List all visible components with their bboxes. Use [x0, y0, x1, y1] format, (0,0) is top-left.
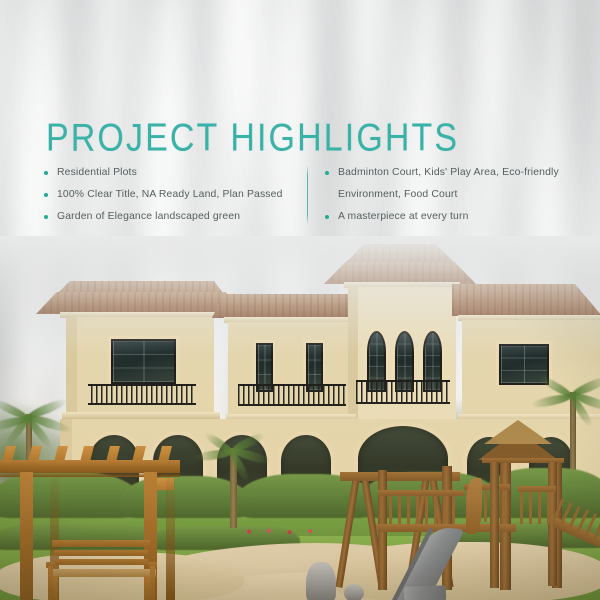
- bench-seat: [48, 569, 156, 577]
- roof-central-tower-slope: [324, 262, 476, 284]
- bullet-dot-icon: [325, 215, 329, 219]
- list-item: Residential Plots: [44, 163, 306, 182]
- bench-backrest-top: [52, 540, 150, 547]
- list-item: A masterpiece at every turn: [325, 207, 577, 226]
- highlights-columns: Residential Plots 100% Clear Title, NA R…: [0, 163, 600, 235]
- bench-support-right: [150, 566, 155, 600]
- tower-post-left: [490, 462, 499, 588]
- highlight-text: 100% Clear Title, NA Ready Land, Plan Pa…: [57, 185, 283, 204]
- window-left-wing-upper: [111, 339, 176, 384]
- pergola-post-right-inner: [166, 476, 175, 600]
- climbing-panel: [466, 478, 482, 534]
- roof-left-wing-slope: [36, 292, 242, 314]
- bullet-dot-icon: [325, 171, 329, 175]
- balcony-base-left-wing-right: [196, 379, 204, 407]
- villa-photo-scene: [0, 236, 600, 600]
- bullet-dot-icon: [44, 171, 48, 175]
- highlight-text: Garden of Elegance landscaped green: [57, 207, 240, 226]
- bullet-dot-icon: [44, 193, 48, 197]
- spring-rider-toy-small: [344, 584, 364, 600]
- balcony-railing-mid: [238, 384, 346, 406]
- string-course-left: [62, 412, 220, 419]
- list-item: Badminton Court, Kids' Play Area, Eco-fr…: [325, 163, 577, 182]
- deck-railing-balusters: [380, 494, 460, 524]
- slide-runout: [404, 585, 447, 600]
- roof-right-wing: [452, 284, 600, 316]
- tower-roof-upper: [484, 420, 552, 444]
- wall-left-wing-return: [66, 317, 77, 417]
- spring-rider-toy: [306, 562, 336, 600]
- balcony-railing-tower: [356, 380, 450, 404]
- playground-structure: [330, 416, 600, 600]
- flower-bed-right: [240, 528, 330, 535]
- highlight-text: Residential Plots: [57, 163, 137, 182]
- highlight-text: A masterpiece at every turn: [338, 207, 469, 226]
- highlights-left-column: Residential Plots 100% Clear Title, NA R…: [44, 163, 306, 229]
- poster-canvas: PROJECT HIGHLIGHTS Residential Plots 100…: [0, 0, 600, 600]
- swing-leg-left-front: [335, 478, 359, 588]
- highlight-text: Environment, Food Court: [338, 185, 458, 204]
- deck-railing-top: [378, 490, 464, 496]
- balcony-base-left-wing: [80, 379, 88, 407]
- highlights-right-column: Badminton Court, Kids' Play Area, Eco-fr…: [325, 163, 577, 229]
- roof-mid-block: [212, 294, 360, 318]
- list-item-continuation: Environment, Food Court: [325, 185, 577, 204]
- pergola-post-left: [20, 472, 33, 600]
- bench-backrest-mid: [54, 550, 148, 556]
- garden-bench: [48, 540, 156, 600]
- tower-railing-balusters: [520, 490, 554, 524]
- bench-support-left: [48, 566, 53, 600]
- bench-backrest-low: [54, 559, 148, 565]
- list-item: Garden of Elegance landscaped green: [44, 207, 306, 226]
- highlight-text: Badminton Court, Kids' Play Area, Eco-fr…: [338, 163, 559, 182]
- bullet-dot-icon: [44, 215, 48, 219]
- tower-railing-top: [518, 486, 556, 492]
- list-item: 100% Clear Title, NA Ready Land, Plan Pa…: [44, 185, 306, 204]
- page-title: PROJECT HIGHLIGHTS: [46, 118, 459, 157]
- balcony-railing-left-wing: [86, 384, 198, 405]
